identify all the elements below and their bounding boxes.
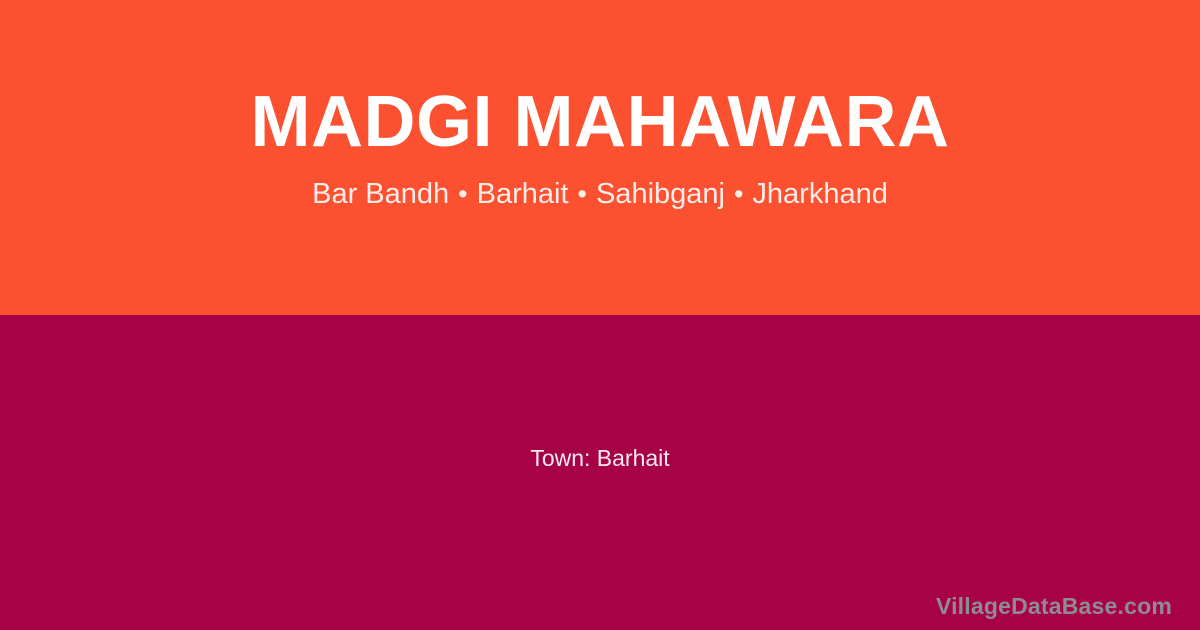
village-info-card: MADGI MAHAWARA Bar Bandh • Barhait • Sah… [0,0,1200,630]
breadcrumb-separator-icon: • [578,177,587,211]
breadcrumb-separator-icon: • [458,177,467,211]
body-band: Town: Barhait VillageDataBase.com [0,315,1200,630]
breadcrumb-item-district: Sahibganj [596,177,725,211]
breadcrumb-item-state: Jharkhand [752,177,887,211]
breadcrumb-item-village: Bar Bandh [312,177,449,211]
site-watermark: VillageDataBase.com [936,593,1172,619]
breadcrumb-item-block: Barhait [477,177,569,211]
header-band: MADGI MAHAWARA Bar Bandh • Barhait • Sah… [0,0,1200,315]
breadcrumb: Bar Bandh • Barhait • Sahibganj • Jharkh… [312,177,888,211]
breadcrumb-separator-icon: • [734,177,743,211]
detail-town: Town: Barhait [0,315,1200,600]
page-title: MADGI MAHAWARA [251,84,950,160]
